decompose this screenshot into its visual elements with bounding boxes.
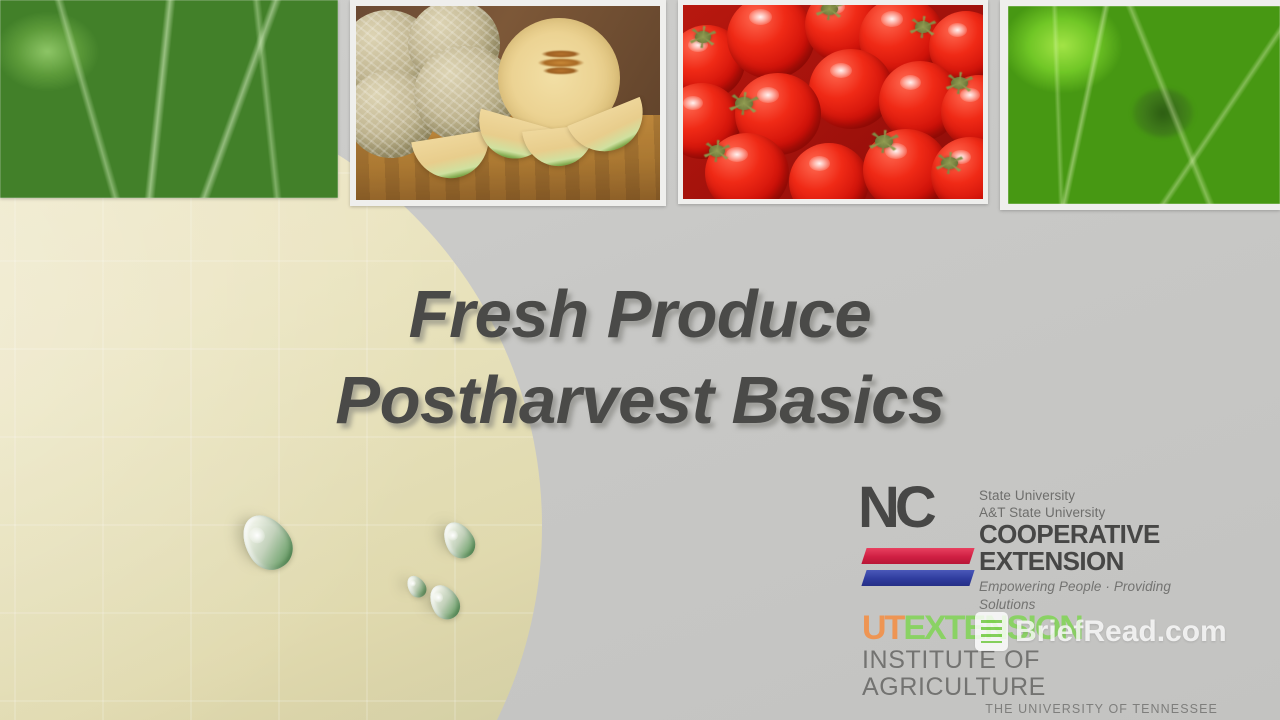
ut-wordmark-ut: UT [862,609,903,647]
nc-logo-text: State University A&T State University CO… [979,488,1209,614]
tomato-stem-6 [709,145,725,157]
watermark-label: BriefRead.com [1015,615,1227,649]
ut-university-line: THE UNIVERSITY OF TENNESSEE [862,702,1220,717]
photo-strip [0,0,1280,212]
briefread-watermark: BriefRead.com [975,612,1227,651]
tomato-stem-2 [821,5,838,15]
tomato-stem-1 [695,31,711,43]
nc-bar-blue [861,570,974,586]
document-lines-icon [975,612,1008,651]
cherry-tomatoes-photo [678,0,988,204]
tomato-stem-7 [875,135,893,148]
tomato-stem-5 [951,77,968,89]
lettuce-leaf-folds [1008,6,1280,204]
tomato-stem-4 [735,97,753,110]
cherry-tomatoes-image [683,5,983,199]
cantaloupe-photo [350,0,666,206]
leafy-greens-photo [0,0,338,198]
nc-sub-line-1: State University [979,488,1209,505]
lettuce-photo [1000,0,1280,210]
lettuce-image [1008,6,1280,204]
leafy-greens-image [0,0,338,198]
nc-bar-red [861,548,974,564]
greens-leaf-veins [0,0,338,198]
ut-institute-line: INSTITUTE OF AGRICULTURE [862,647,1220,701]
tomato-stem-3 [915,21,931,33]
nc-tagline: Empowering People · Providing Solutions [979,578,1209,614]
nc-cooperative-extension-logo: NC State University A&T State University… [861,484,1201,596]
presentation-slide: Fresh Produce Postharvest Basics NC Stat… [0,0,1280,720]
tomato-stem-8 [941,157,958,169]
nc-big-line-1: COOPERATIVE [979,521,1209,548]
nc-logo-mark: NC [861,484,973,596]
nc-big-line-2: EXTENSION [979,548,1209,575]
cantaloupe-image [356,6,660,200]
melon-seed-cavity [522,42,600,82]
nc-monogram: NC [858,478,932,538]
